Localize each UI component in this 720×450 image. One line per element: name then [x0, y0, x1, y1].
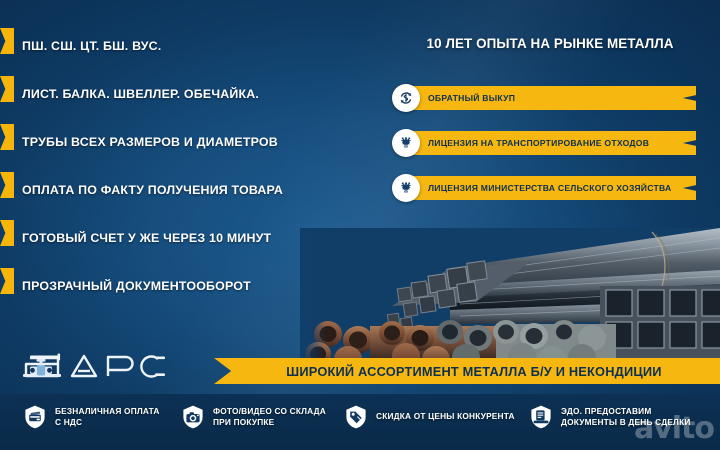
brand-logo: БАРС	[16, 348, 188, 388]
list-item-label: ТРУБЫ ВСЕХ РАЗМЕРОВ И ДИАМЕТРОВ	[22, 135, 278, 149]
price-tag-icon	[343, 404, 369, 430]
double-eagle-emblem-icon	[392, 129, 420, 157]
list-item-label: ЛИСТ. БАЛКА. ШВЕЛЛЕР. ОБЕЧАЙКА.	[22, 87, 259, 101]
list-item: ЛИСТ. БАЛКА. ШВЕЛЛЕР. ОБЕЧАЙКА.	[0, 70, 370, 118]
feature-line-2: С НДС	[55, 417, 160, 428]
page-title: 10 ЛЕТ ОПЫТА НА РЫНКЕ МЕТАЛЛА	[392, 36, 708, 51]
double-eagle-emblem-icon	[392, 174, 420, 202]
bottom-feature-photo-video: ФОТО/ВИДЕО СО СКЛАДА ПРИ ПОКУПКЕ	[180, 404, 326, 430]
feature-line-2: ПРИ ПОКУПКЕ	[213, 417, 326, 428]
list-item-label: ГОТОВЫЙ СЧЕТ У ЖЕ ЧЕРЕЗ 10 МИНУТ	[22, 231, 271, 245]
buyback-refresh-icon	[392, 84, 420, 112]
yellow-ribbon-marker-icon	[0, 220, 14, 246]
badge-label: ЛИЦЕНЗИЯ НА ТРАНСПОРТИРОВАНИЕ ОТХОДОВ	[428, 131, 649, 155]
badge-waste-transport-license: ЛИЦЕНЗИЯ НА ТРАНСПОРТИРОВАНИЕ ОТХОДОВ	[392, 131, 696, 155]
feature-line-1: БЕЗНАЛИЧНАЯ ОПЛАТА	[55, 406, 160, 417]
logo-text: БАРС	[16, 348, 59, 352]
badge-label: ЛИЦЕНЗИЯ МИНИСТЕРСТВА СЕЛЬСКОГО ХОЗЯЙСТВ…	[428, 176, 671, 200]
credential-badge-list: ОБРАТНЫЙ ВЫКУП ЛИЦЕНЗИЯ НА ТРАНСПОРТИРОВ…	[392, 86, 696, 221]
yellow-ribbon-marker-icon	[0, 172, 14, 198]
wallet-card-icon	[22, 404, 48, 430]
list-item-label: ПШ. СШ. ЦТ. БШ. ВУС.	[22, 39, 161, 53]
advertisement-banner: ПШ. СШ. ЦТ. БШ. ВУС. ЛИСТ. БАЛКА. ШВЕЛЛЕ…	[0, 0, 720, 450]
document-monitor-icon	[528, 404, 554, 430]
list-item: ТРУБЫ ВСЕХ РАЗМЕРОВ И ДИАМЕТРОВ	[0, 118, 370, 166]
badge-label: ОБРАТНЫЙ ВЫКУП	[428, 86, 515, 110]
avito-watermark: avito	[634, 411, 714, 446]
badge-agriculture-ministry-license: ЛИЦЕНЗИЯ МИНИСТЕРСТВА СЕЛЬСКОГО ХОЗЯЙСТВ…	[392, 176, 696, 200]
camera-icon	[180, 404, 206, 430]
yellow-ribbon-marker-icon	[0, 76, 14, 102]
list-item: ПШ. СШ. ЦТ. БШ. ВУС.	[0, 22, 370, 70]
bottom-feature-label: ФОТО/ВИДЕО СО СКЛАДА ПРИ ПОКУПКЕ	[213, 406, 326, 428]
list-item: ГОТОВЫЙ СЧЕТ У ЖЕ ЧЕРЕЗ 10 МИНУТ	[0, 214, 370, 262]
bottom-feature-label: БЕЗНАЛИЧНАЯ ОПЛАТА С НДС	[55, 406, 160, 428]
bottom-feature-label: СКИДКА ОТ ЦЕНЫ КОНКУРЕНТА	[376, 411, 515, 422]
bottom-feature-row: БЕЗНАЛИЧНАЯ ОПЛАТА С НДС ФОТО/ВИДЕО	[0, 394, 720, 450]
feature-line-1: ФОТО/ВИДЕО СО СКЛАДА	[213, 406, 326, 417]
feature-line-1: СКИДКА ОТ ЦЕНЫ КОНКУРЕНТА	[376, 411, 515, 422]
yellow-ribbon-marker-icon	[0, 268, 14, 294]
bottom-feature-discount: СКИДКА ОТ ЦЕНЫ КОНКУРЕНТА	[343, 404, 515, 430]
yellow-ribbon-marker-icon	[0, 124, 14, 150]
bottom-feature-payment: БЕЗНАЛИЧНАЯ ОПЛАТА С НДС	[22, 404, 160, 430]
assortment-banner: ШИРОКИЙ АССОРТИМЕНТ МЕТАЛЛА Б/У И НЕКОНД…	[214, 358, 720, 384]
assortment-banner-label: ШИРОКИЙ АССОРТИМЕНТ МЕТАЛЛА Б/У И НЕКОНД…	[272, 364, 661, 379]
list-item: ПРОЗРАЧНЫЙ ДОКУМЕНТООБОРОТ	[0, 262, 370, 310]
list-item-label: ОПЛАТА ПО ФАКТУ ПОЛУЧЕНИЯ ТОВАРА	[22, 183, 283, 197]
list-item-label: ПРОЗРАЧНЫЙ ДОКУМЕНТООБОРОТ	[22, 279, 251, 293]
yellow-ribbon-marker-icon	[0, 28, 14, 54]
list-item: ОПЛАТА ПО ФАКТУ ПОЛУЧЕНИЯ ТОВАРА	[0, 166, 370, 214]
badge-buyback: ОБРАТНЫЙ ВЫКУП	[392, 86, 696, 110]
left-feature-list: ПШ. СШ. ЦТ. БШ. ВУС. ЛИСТ. БАЛКА. ШВЕЛЛЕ…	[0, 22, 370, 310]
